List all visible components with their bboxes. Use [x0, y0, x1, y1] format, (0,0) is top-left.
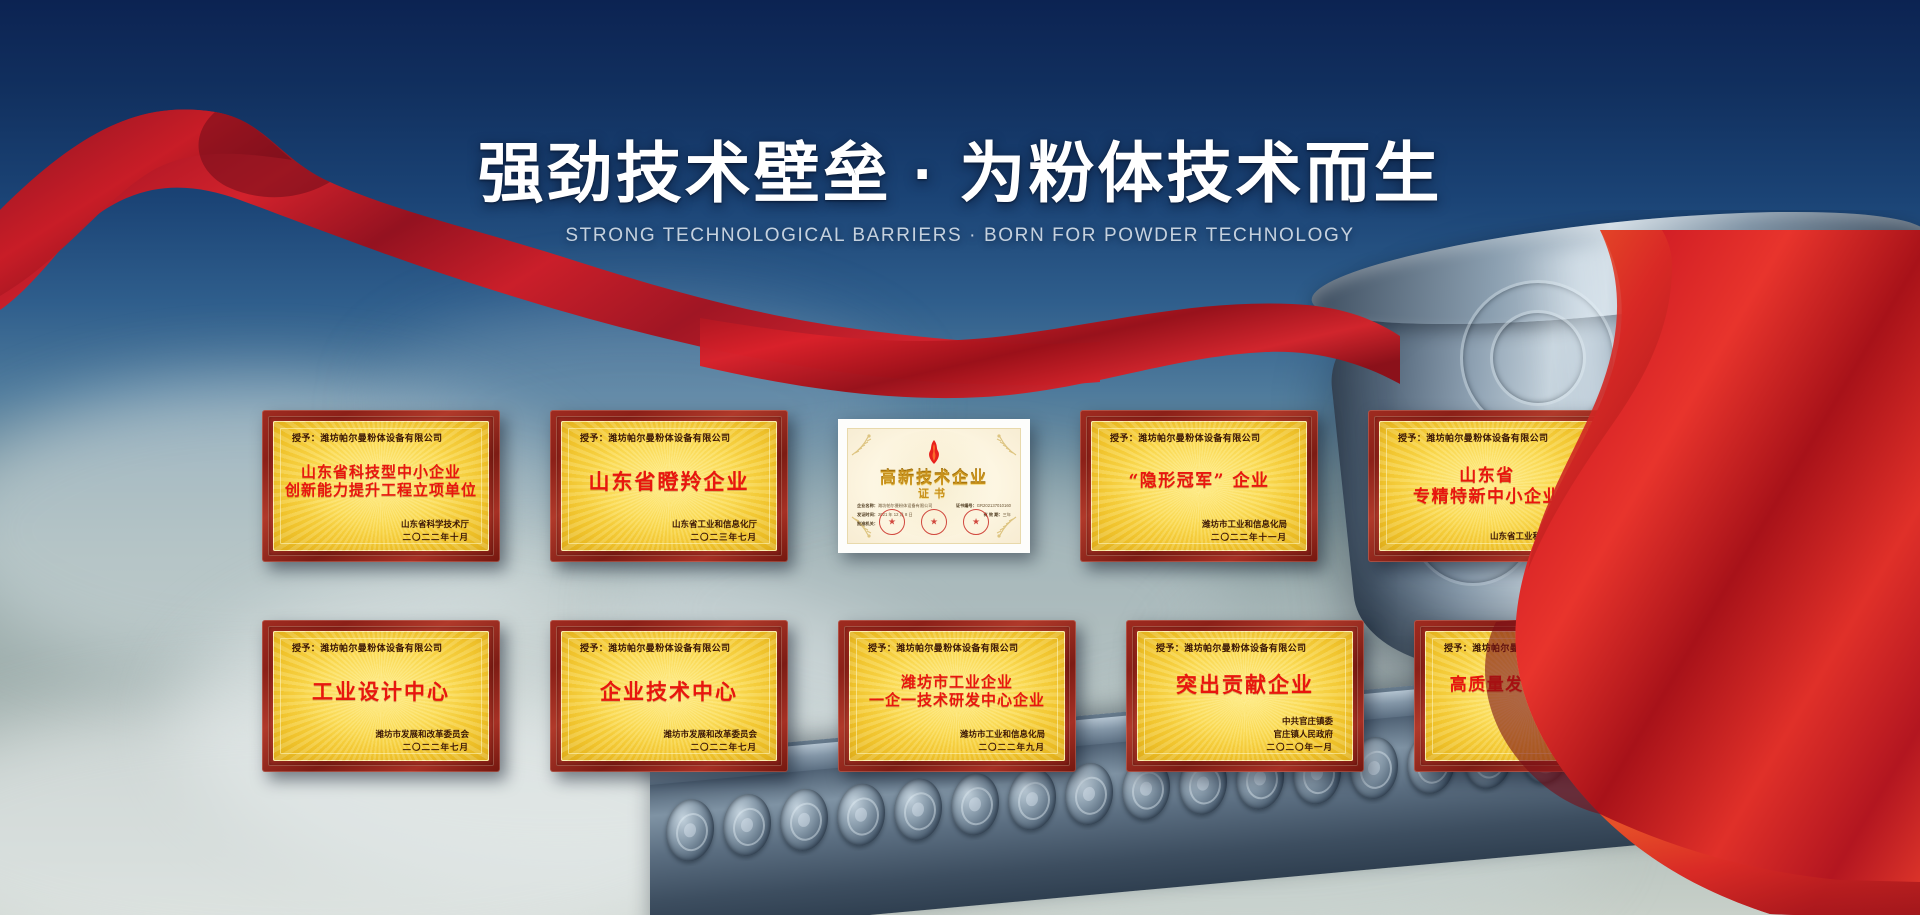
award-date: 二〇二二年十一月: [1104, 531, 1294, 543]
wheat-ornament-icon: [850, 431, 880, 457]
award-issuer: 潍坊市工业和信息化局: [862, 728, 1052, 740]
award-title-line: 山东省瞪羚企业: [589, 470, 750, 494]
award-issuer: 中共官庄镇委 官庄镇人民政府: [1150, 715, 1340, 740]
page-title: 强劲技术壁垒 · 为粉体技术而生: [0, 138, 1920, 209]
award-issuer: 潍坊市发展和改革委员会: [574, 728, 764, 740]
award-title-line: 突出贡献企业: [1176, 673, 1314, 697]
award-date: 二〇二二年七月: [286, 741, 476, 753]
award-title-line: 潍坊市工业企业: [901, 674, 1013, 691]
plaque-gold-plate: 授予：潍坊帕尔曼粉体设备有限公司 工业设计中心 潍坊市发展和改革委员会 二〇二二…: [273, 631, 489, 761]
award-recipient-line: 授予：潍坊帕尔曼粉体设备有限公司: [1150, 641, 1340, 654]
award-recipient-line: 授予：潍坊帕尔曼粉体设备有限公司: [1104, 431, 1294, 444]
award-recipient-line: 授予：潍坊帕尔曼粉体设备有限公司: [286, 431, 476, 444]
award-date: 二〇二〇年一月: [1150, 741, 1340, 753]
official-seal-icon: [879, 509, 905, 535]
award-title: 潍坊市工业企业 一企一技术研发中心企业: [862, 657, 1052, 726]
award-title: “隐形冠军” 企业: [1104, 447, 1294, 516]
medallion-icon: [1692, 704, 1740, 770]
medallion-icon: [951, 771, 999, 837]
award-issuer: 新安街道党工委 新安街道办事处: [1438, 715, 1628, 740]
award-plaque[interactable]: 授予：潍坊帕尔曼粉体设备有限公司 突出贡献企业 中共官庄镇委 官庄镇人民政府 二…: [1126, 620, 1364, 772]
certificate-slot: 高新技术企业 证书 企业名称：潍坊帕尔曼粉体设备有限公司 证书编号：GR2021…: [838, 410, 1030, 562]
award-date: 二〇二二年十月: [286, 531, 476, 543]
award-recipient-line: 授予：潍坊帕尔曼粉体设备有限公司: [1438, 641, 1628, 654]
ding-ornament-ring: [1660, 300, 1766, 406]
award-plaque[interactable]: 授予：潍坊帕尔曼粉体设备有限公司 工业设计中心 潍坊市发展和改革委员会 二〇二二…: [262, 620, 500, 772]
award-issuer: 山东省科学技术厅: [286, 518, 476, 530]
plaque-gold-plate: 授予：潍坊帕尔曼粉体设备有限公司 山东省 专精特新中小企业 山东省工业和信息化厅: [1379, 421, 1595, 551]
award-date: 二〇二三年二月: [1438, 741, 1628, 753]
page-subtitle: STRONG TECHNOLOGICAL BARRIERS · BORN FOR…: [0, 225, 1920, 247]
award-title-line: 山东省: [1459, 467, 1515, 486]
award-date: 二〇二三年七月: [574, 531, 764, 543]
award-plaque[interactable]: 授予：潍坊帕尔曼粉体设备有限公司 山东省瞪羚企业 山东省工业和信息化厅 二〇二三…: [550, 410, 788, 562]
award-title-line: 山东省科技型中小企业: [301, 464, 461, 481]
award-plaque[interactable]: 授予：潍坊帕尔曼粉体设备有限公司 山东省科技型中小企业 创新能力提升工程立项单位…: [262, 410, 500, 562]
award-recipient-line: 授予：潍坊帕尔曼粉体设备有限公司: [862, 641, 1052, 654]
award-plaque[interactable]: 授予：潍坊帕尔曼粉体设备有限公司 潍坊市工业企业 一企一技术研发中心企业 潍坊市…: [838, 620, 1076, 772]
award-plaque[interactable]: 授予：潍坊帕尔曼粉体设备有限公司 高质量发展优秀企业 新安街道党工委 新安街道办…: [1414, 620, 1652, 772]
award-plaque[interactable]: 授予：潍坊帕尔曼粉体设备有限公司 山东省 专精特新中小企业 山东省工业和信息化厅: [1368, 410, 1606, 562]
plaque-gold-plate: 授予：潍坊帕尔曼粉体设备有限公司 山东省科技型中小企业 创新能力提升工程立项单位…: [273, 421, 489, 551]
award-title: 工业设计中心: [286, 657, 476, 726]
official-seal-icon: [963, 509, 989, 535]
award-title: 山东省 专精特新中小企业: [1392, 447, 1582, 528]
medallion-icon: [837, 782, 885, 848]
plaque-gold-plate: 授予：潍坊帕尔曼粉体设备有限公司 潍坊市工业企业 一企一技术研发中心企业 潍坊市…: [849, 631, 1065, 761]
award-title-line: “隐形冠军” 企业: [1129, 472, 1270, 491]
award-recipient-line: 授予：潍坊帕尔曼粉体设备有限公司: [286, 641, 476, 654]
certificate-subtitle: 证书: [848, 485, 1020, 501]
award-title: 企业技术中心: [574, 657, 764, 726]
plaque-gold-plate: 授予：潍坊帕尔曼粉体设备有限公司 高质量发展优秀企业 新安街道党工委 新安街道办…: [1425, 631, 1641, 761]
award-title-line: 专精特新中小企业: [1413, 488, 1561, 507]
award-title: 山东省瞪羚企业: [574, 447, 764, 516]
award-recipient-line: 授予：潍坊帕尔曼粉体设备有限公司: [574, 431, 764, 444]
plaque-gold-plate: 授予：潍坊帕尔曼粉体设备有限公司 “隐形冠军” 企业 潍坊市工业和信息化局 二〇…: [1091, 421, 1307, 551]
medallion-icon: [723, 792, 771, 858]
awards-row-top: 授予：潍坊帕尔曼粉体设备有限公司 山东省科技型中小企业 创新能力提升工程立项单位…: [262, 410, 1606, 562]
flame-emblem-icon: [923, 440, 945, 464]
award-title-line: 创新能力提升工程立项单位: [285, 482, 477, 499]
banner-stage: 强劲技术壁垒 · 为粉体技术而生 STRONG TECHNOLOGICAL BA…: [0, 0, 1920, 915]
award-title-line: 一企一技术研发中心企业: [869, 692, 1045, 709]
medallion-icon: [1008, 766, 1056, 832]
medallion-icon: [1806, 693, 1854, 759]
award-title-line: 高质量发展优秀企业: [1450, 676, 1617, 695]
medallion-icon: [780, 787, 828, 853]
official-seal-icon: [921, 509, 947, 535]
award-date: 二〇二二年九月: [862, 741, 1052, 753]
plaque-gold-plate: 授予：潍坊帕尔曼粉体设备有限公司 企业技术中心 潍坊市发展和改革委员会 二〇二二…: [561, 631, 777, 761]
plaque-gold-plate: 授予：潍坊帕尔曼粉体设备有限公司 山东省瞪羚企业 山东省工业和信息化厅 二〇二三…: [561, 421, 777, 551]
award-issuer: 山东省工业和信息化厅: [574, 518, 764, 530]
medallion-icon: [666, 797, 714, 863]
award-issuer: 山东省工业和信息化厅: [1392, 530, 1582, 542]
award-title-line: 企业技术中心: [600, 680, 738, 704]
medallion-icon: [1863, 688, 1911, 754]
award-title: 突出贡献企业: [1150, 657, 1340, 713]
certificate-inner: 高新技术企业 证书 企业名称：潍坊帕尔曼粉体设备有限公司 证书编号：GR2021…: [847, 428, 1021, 544]
banner-title-block: 强劲技术壁垒 · 为粉体技术而生 STRONG TECHNOLOGICAL BA…: [0, 138, 1920, 247]
high-tech-enterprise-certificate[interactable]: 高新技术企业 证书 企业名称：潍坊帕尔曼粉体设备有限公司 证书编号：GR2021…: [838, 419, 1030, 553]
certificate-stamp-row: [848, 509, 1020, 535]
award-title: 高质量发展优秀企业: [1438, 657, 1628, 713]
awards-row-bottom: 授予：潍坊帕尔曼粉体设备有限公司 工业设计中心 潍坊市发展和改革委员会 二〇二二…: [262, 620, 1652, 772]
award-date: 二〇二二年七月: [574, 741, 764, 753]
medallion-icon: [894, 776, 942, 842]
award-title: 山东省科技型中小企业 创新能力提升工程立项单位: [286, 447, 476, 516]
plaque-gold-plate: 授予：潍坊帕尔曼粉体设备有限公司 突出贡献企业 中共官庄镇委 官庄镇人民政府 二…: [1137, 631, 1353, 761]
award-issuer: 潍坊市发展和改革委员会: [286, 728, 476, 740]
ding-ornament-ring: [1720, 460, 1856, 596]
award-recipient-line: 授予：潍坊帕尔曼粉体设备有限公司: [574, 641, 764, 654]
award-title-line: 工业设计中心: [312, 680, 450, 704]
medallion-icon: [1749, 699, 1797, 765]
award-recipient-line: 授予：潍坊帕尔曼粉体设备有限公司: [1392, 431, 1582, 444]
award-plaque[interactable]: 授予：潍坊帕尔曼粉体设备有限公司 企业技术中心 潍坊市发展和改革委员会 二〇二二…: [550, 620, 788, 772]
award-plaque[interactable]: 授予：潍坊帕尔曼粉体设备有限公司 “隐形冠军” 企业 潍坊市工业和信息化局 二〇…: [1080, 410, 1318, 562]
wheat-ornament-icon: [988, 431, 1018, 457]
award-issuer: 潍坊市工业和信息化局: [1104, 518, 1294, 530]
